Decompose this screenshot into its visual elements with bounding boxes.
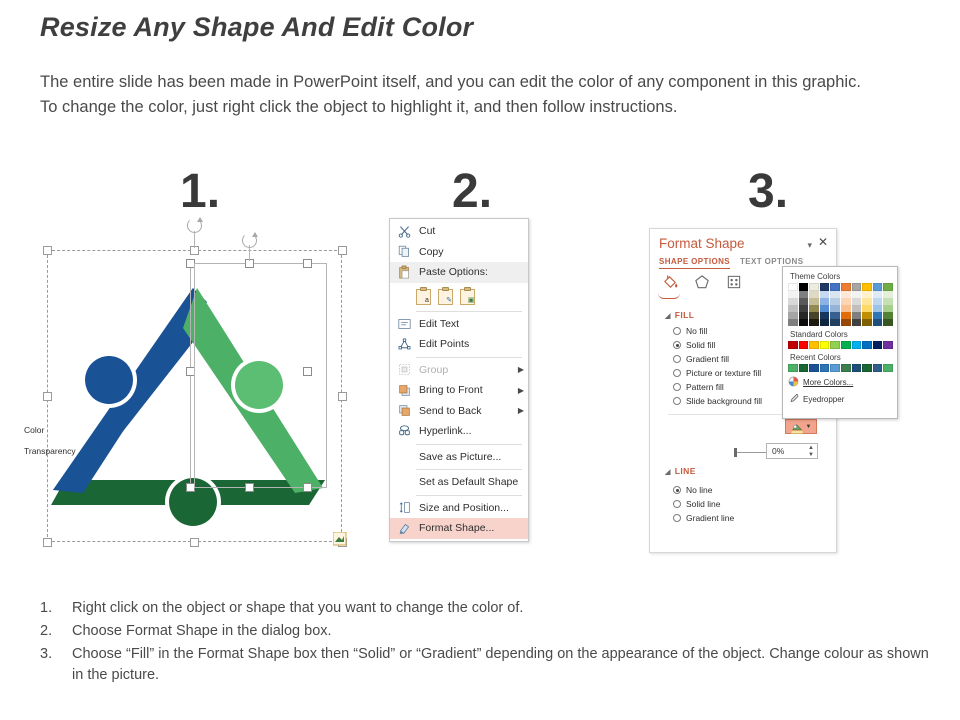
- menu-separator: [416, 444, 522, 445]
- context-item-label: Format Shape...: [415, 522, 514, 534]
- page-title: Resize Any Shape And Edit Color: [40, 12, 473, 43]
- radio-pattern-fill[interactable]: Pattern fill: [673, 380, 762, 394]
- inner-handle-s[interactable]: [245, 483, 254, 492]
- color-swatch[interactable]: [862, 364, 872, 372]
- radio-label: Gradient line: [686, 513, 734, 523]
- instruction-line: 1. Right click on the object or shape th…: [40, 598, 940, 619]
- radio-label: Pattern fill: [686, 382, 724, 392]
- color-swatch[interactable]: [852, 364, 862, 372]
- color-swatch[interactable]: [799, 283, 809, 291]
- color-swatch[interactable]: [852, 298, 862, 305]
- shape-context-menu[interactable]: Cut Copy Paste Options:: [389, 218, 529, 542]
- color-swatch[interactable]: [852, 341, 862, 349]
- color-swatch[interactable]: [830, 283, 840, 291]
- color-swatch[interactable]: [799, 364, 809, 372]
- color-swatch[interactable]: [883, 298, 893, 305]
- chevron-down-icon[interactable]: ▾: [807, 240, 812, 251]
- eyedropper-icon: [788, 393, 799, 406]
- color-swatch[interactable]: [862, 291, 872, 298]
- theme-shade-row[interactable]: [788, 305, 892, 312]
- instruction-number: 3.: [40, 644, 72, 686]
- submenu-arrow: ▶: [514, 406, 528, 415]
- color-swatch[interactable]: [809, 298, 819, 305]
- edit-points-icon: [393, 336, 415, 353]
- step-number-1: 1.: [180, 168, 220, 216]
- color-swatch[interactable]: [820, 312, 830, 319]
- color-swatch[interactable]: [873, 341, 883, 349]
- color-swatch[interactable]: [809, 305, 819, 312]
- radio-gradient-fill[interactable]: Gradient fill: [673, 352, 762, 366]
- inner-handle-se[interactable]: [303, 483, 312, 492]
- color-swatch[interactable]: [841, 298, 851, 305]
- color-swatch[interactable]: [873, 319, 883, 326]
- paste-picture-icon[interactable]: ▣: [460, 287, 475, 305]
- color-swatch[interactable]: [788, 364, 798, 372]
- color-swatch[interactable]: [873, 291, 883, 298]
- color-swatch[interactable]: [862, 312, 872, 319]
- radio-icon[interactable]: [673, 383, 681, 391]
- radio-picture-texture-fill[interactable]: Picture or texture fill: [673, 366, 762, 380]
- theme-shade-row[interactable]: [788, 298, 892, 305]
- radio-icon[interactable]: [673, 327, 681, 335]
- color-swatch[interactable]: [862, 298, 872, 305]
- radio-slide-background-fill[interactable]: Slide background fill: [673, 394, 762, 408]
- theme-colors-top-row[interactable]: [788, 283, 892, 291]
- resize-handle-e[interactable]: [338, 392, 347, 401]
- color-swatch[interactable]: [788, 298, 798, 305]
- color-swatch[interactable]: [820, 305, 830, 312]
- color-swatch[interactable]: [820, 298, 830, 305]
- color-swatch[interactable]: [852, 283, 862, 291]
- color-swatch[interactable]: [830, 341, 840, 349]
- color-swatch[interactable]: [841, 283, 851, 291]
- color-swatch[interactable]: [883, 312, 893, 319]
- instruction-text: Right click on the object or shape that …: [72, 598, 940, 619]
- context-item-label: Cut: [415, 225, 514, 237]
- smart-guide-badge: [333, 532, 347, 546]
- color-swatch[interactable]: [830, 305, 840, 312]
- radio-label: Gradient fill: [686, 354, 729, 364]
- color-swatch[interactable]: [788, 283, 798, 291]
- active-tool-underline: [658, 293, 680, 299]
- fill-section-header[interactable]: ◢FILL: [665, 310, 694, 320]
- color-swatch[interactable]: [820, 341, 830, 349]
- context-item-label: Bring to Front: [415, 384, 514, 396]
- transparency-label: Transparency: [24, 446, 76, 456]
- context-item-edit-points[interactable]: Edit Points: [390, 334, 528, 355]
- submenu-arrow: ▶: [514, 365, 528, 374]
- inner-handle-ne[interactable]: [303, 259, 312, 268]
- resize-handle-ne[interactable]: [338, 246, 347, 255]
- color-swatch[interactable]: [788, 312, 798, 319]
- center-guide-line: [194, 263, 195, 488]
- palette-icon: [788, 376, 799, 389]
- radio-label: No line: [686, 485, 712, 495]
- menu-separator: [416, 357, 522, 358]
- color-swatch[interactable]: [852, 305, 862, 312]
- inner-handle-e[interactable]: [303, 367, 312, 376]
- line-section-header[interactable]: ◢LINE: [665, 466, 696, 476]
- context-item-label: Size and Position...: [415, 502, 514, 514]
- context-item-hyperlink[interactable]: Hyperlink...: [390, 421, 528, 442]
- color-swatch[interactable]: [788, 305, 798, 312]
- no-icon: [393, 474, 415, 491]
- instruction-line: 2. Choose Format Shape in the dialog box…: [40, 621, 940, 642]
- instructions-list: 1. Right click on the object or shape th…: [40, 598, 940, 688]
- color-swatch[interactable]: [852, 319, 862, 326]
- color-swatch[interactable]: [830, 312, 840, 319]
- radio-icon-selected[interactable]: [673, 486, 681, 494]
- color-swatch[interactable]: [883, 319, 893, 326]
- eyedropper-label: Eyedropper: [803, 395, 844, 404]
- radio-solid-line[interactable]: Solid line: [673, 497, 734, 511]
- intro-paragraph: The entire slide has been made in PowerP…: [40, 70, 870, 120]
- theme-shade-row[interactable]: [788, 291, 892, 298]
- context-item-size-and-position[interactable]: Size and Position...: [390, 498, 528, 519]
- radio-label: Solid fill: [686, 340, 715, 350]
- radio-label: Picture or texture fill: [686, 368, 761, 378]
- slide-canvas: Resize Any Shape And Edit Color The enti…: [0, 0, 960, 720]
- eyedropper-row[interactable]: Eyedropper: [788, 393, 892, 406]
- paste-icon: [393, 264, 415, 281]
- context-item-label: Hyperlink...: [415, 425, 514, 437]
- transparency-value-field[interactable]: 0% ▲▼: [766, 443, 818, 459]
- rotate-stem-1: [194, 231, 195, 248]
- scissors-icon: [393, 223, 415, 240]
- radio-label: Solid line: [686, 499, 721, 509]
- color-swatch[interactable]: [873, 298, 883, 305]
- group-icon: [393, 361, 415, 378]
- context-item-label: Set as Default Shape: [415, 476, 518, 488]
- color-swatch[interactable]: [809, 291, 819, 298]
- color-swatch[interactable]: [852, 312, 862, 319]
- color-swatch[interactable]: [809, 364, 819, 372]
- line-options-group[interactable]: No line Solid line Gradient line: [673, 483, 734, 525]
- menu-separator: [416, 495, 522, 496]
- instruction-number: 2.: [40, 621, 72, 642]
- resize-handle-sw[interactable]: [43, 538, 52, 547]
- color-swatch-icon: [791, 421, 804, 432]
- color-swatch[interactable]: [799, 305, 809, 312]
- color-swatch[interactable]: [873, 305, 883, 312]
- color-swatch[interactable]: [830, 319, 840, 326]
- radio-gradient-line[interactable]: Gradient line: [673, 511, 734, 525]
- color-swatch[interactable]: [820, 364, 830, 372]
- context-item-copy[interactable]: Copy: [390, 242, 528, 263]
- color-swatch[interactable]: [830, 291, 840, 298]
- color-swatch[interactable]: [788, 291, 798, 298]
- radio-no-fill[interactable]: No fill: [673, 324, 762, 338]
- color-swatch[interactable]: [873, 312, 883, 319]
- color-swatch[interactable]: [809, 312, 819, 319]
- theme-colors-shades[interactable]: [788, 291, 892, 326]
- context-item-label: Edit Points: [415, 338, 514, 350]
- color-swatch[interactable]: [862, 319, 872, 326]
- color-swatch[interactable]: [799, 291, 809, 298]
- menu-separator: [416, 469, 522, 470]
- tab-shape-options[interactable]: SHAPE OPTIONS: [659, 257, 730, 269]
- color-swatch[interactable]: [841, 312, 851, 319]
- chevron-down-icon[interactable]: ▼: [806, 424, 812, 430]
- color-swatch[interactable]: [809, 341, 819, 349]
- context-item-format-shape[interactable]: Format Shape...: [390, 518, 528, 539]
- color-swatch[interactable]: [799, 298, 809, 305]
- resize-handle-s[interactable]: [190, 538, 199, 547]
- fill-bucket-icon[interactable]: [660, 273, 680, 291]
- edit-text-icon: [393, 315, 415, 332]
- theme-shade-row[interactable]: [788, 319, 892, 326]
- color-swatch[interactable]: [788, 341, 798, 349]
- fill-options-group[interactable]: No fill Solid fill Gradient fill Picture…: [673, 324, 762, 408]
- instruction-number: 1.: [40, 598, 72, 619]
- color-swatch[interactable]: [830, 364, 840, 372]
- menu-separator: [416, 311, 522, 312]
- context-item-label: Copy: [415, 246, 514, 258]
- color-swatch[interactable]: [862, 283, 872, 291]
- radio-no-line[interactable]: No line: [673, 483, 734, 497]
- panel-title: Format Shape: [659, 236, 745, 251]
- copy-icon: [393, 243, 415, 260]
- color-picker-button[interactable]: ▼: [785, 419, 817, 434]
- paste-keep-formatting-icon[interactable]: ✎: [438, 287, 453, 305]
- panel-tool-icons[interactable]: [660, 273, 744, 291]
- color-swatch[interactable]: [883, 305, 893, 312]
- no-icon: [393, 448, 415, 465]
- color-swatch[interactable]: [883, 341, 893, 349]
- submenu-arrow: ▶: [514, 386, 528, 395]
- collapse-triangle-icon: ◢: [665, 313, 671, 320]
- more-colors-row[interactable]: More Colors...: [788, 376, 892, 389]
- context-item-send-to-back[interactable]: Send to Back ▶: [390, 401, 528, 422]
- color-swatch[interactable]: [799, 341, 809, 349]
- transparency-value: 0%: [772, 446, 784, 456]
- color-swatch[interactable]: [820, 319, 830, 326]
- hyperlink-icon: [393, 423, 415, 440]
- step-number-2: 2.: [452, 168, 492, 216]
- context-item-label: Paste Options:: [415, 266, 514, 278]
- instruction-text: Choose “Fill” in the Format Shape box th…: [72, 644, 940, 686]
- theme-shade-row[interactable]: [788, 312, 892, 319]
- radio-icon[interactable]: [673, 369, 681, 377]
- paste-keep-text-icon[interactable]: a: [416, 287, 431, 305]
- effects-pentagon-icon[interactable]: [692, 273, 712, 291]
- standard-colors-row[interactable]: [788, 341, 892, 349]
- theme-colors-label: Theme Colors: [790, 272, 892, 281]
- color-swatch[interactable]: [883, 291, 893, 298]
- color-swatch[interactable]: [873, 364, 883, 372]
- color-swatch[interactable]: [799, 312, 809, 319]
- rotate-handle-2[interactable]: [242, 233, 257, 248]
- resize-handle-w[interactable]: [43, 392, 52, 401]
- color-swatch[interactable]: [820, 283, 830, 291]
- color-swatch[interactable]: [862, 305, 872, 312]
- recent-colors-row[interactable]: [788, 364, 892, 372]
- context-item-save-as-picture[interactable]: Save as Picture...: [390, 447, 528, 468]
- color-swatch[interactable]: [809, 283, 819, 291]
- radio-icon-selected[interactable]: [673, 341, 681, 349]
- radio-label: No fill: [686, 326, 707, 336]
- color-swatch[interactable]: [841, 291, 851, 298]
- resize-handle-nw[interactable]: [43, 246, 52, 255]
- color-swatch[interactable]: [830, 298, 840, 305]
- color-swatch[interactable]: [841, 319, 851, 326]
- color-swatch[interactable]: [841, 341, 851, 349]
- context-item-bring-to-front[interactable]: Bring to Front ▶: [390, 380, 528, 401]
- radio-icon[interactable]: [673, 500, 681, 508]
- color-swatch[interactable]: [809, 319, 819, 326]
- color-swatch[interactable]: [820, 291, 830, 298]
- size-position-icon: [393, 499, 415, 516]
- color-swatch[interactable]: [862, 341, 872, 349]
- radio-label: Slide background fill: [686, 396, 762, 406]
- bring-front-icon: [393, 382, 415, 399]
- color-swatch[interactable]: [883, 283, 893, 291]
- context-item-set-default-shape[interactable]: Set as Default Shape: [390, 472, 528, 493]
- step-number-3: 3.: [748, 168, 788, 216]
- context-item-edit-text[interactable]: Edit Text: [390, 314, 528, 335]
- radio-solid-fill[interactable]: Solid fill: [673, 338, 762, 352]
- paste-options-row[interactable]: a ✎ ▣: [390, 283, 528, 309]
- instruction-text: Choose Format Shape in the dialog box.: [72, 621, 940, 642]
- color-swatch[interactable]: [788, 319, 798, 326]
- color-swatch[interactable]: [799, 319, 809, 326]
- selected-shape-stage: [35, 215, 365, 560]
- context-item-group: Group ▶: [390, 360, 528, 381]
- context-item-label: Send to Back: [415, 405, 514, 417]
- layout-size-icon[interactable]: [724, 273, 744, 291]
- context-item-label: Group: [415, 364, 514, 376]
- color-swatch[interactable]: [852, 291, 862, 298]
- more-colors-label: More Colors...: [803, 378, 853, 387]
- context-item-label: Save as Picture...: [415, 451, 514, 463]
- color-swatch[interactable]: [841, 305, 851, 312]
- radio-icon[interactable]: [673, 355, 681, 363]
- context-item-cut[interactable]: Cut: [390, 221, 528, 242]
- context-item-label: Edit Text: [415, 318, 514, 330]
- radio-icon[interactable]: [673, 514, 681, 522]
- context-item-paste-options[interactable]: Paste Options:: [390, 262, 528, 283]
- radio-icon[interactable]: [673, 397, 681, 405]
- color-label: Color: [24, 425, 44, 435]
- send-back-icon: [393, 402, 415, 419]
- spinner-arrows[interactable]: ▲▼: [808, 445, 814, 458]
- instruction-line: 3. Choose “Fill” in the Format Shape box…: [40, 644, 940, 686]
- recent-colors-label: Recent Colors: [790, 353, 892, 362]
- rotate-handle-1[interactable]: [187, 218, 202, 233]
- color-picker-flyout[interactable]: Theme Colors Standard Colors Recent Colo…: [782, 266, 898, 419]
- standard-colors-label: Standard Colors: [790, 330, 892, 339]
- tab-text-options[interactable]: TEXT OPTIONS: [740, 257, 803, 266]
- collapse-triangle-icon: ◢: [665, 469, 671, 476]
- close-icon[interactable]: ✕: [818, 235, 828, 249]
- color-swatch[interactable]: [883, 364, 893, 372]
- color-swatch[interactable]: [873, 283, 883, 291]
- color-swatch[interactable]: [841, 364, 851, 372]
- format-shape-icon: [393, 520, 415, 537]
